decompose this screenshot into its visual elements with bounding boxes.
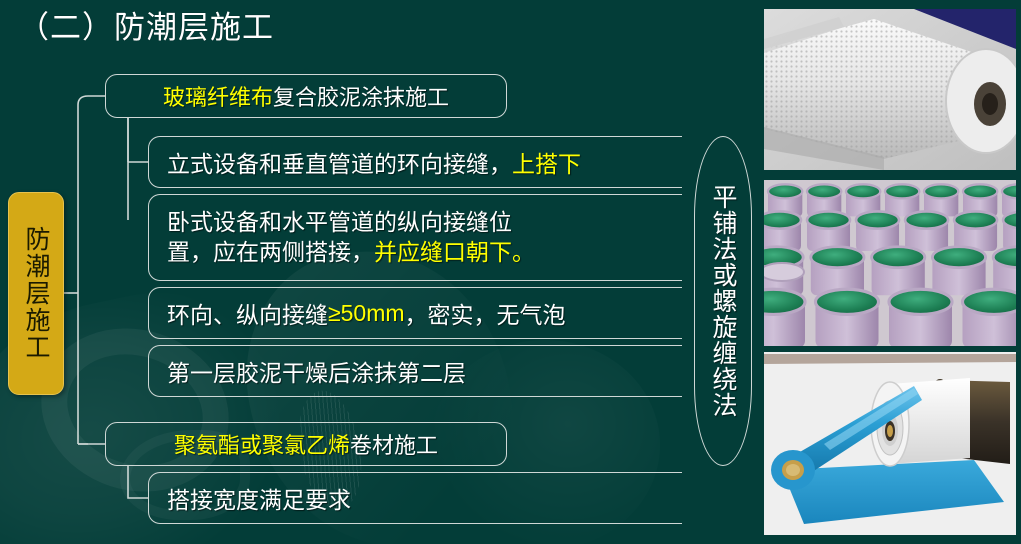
node-horizontal-wrapper: 卧式设备和水平管道的纵向接缝位 置，应在两侧搭接，并应缝口朝下。 [167, 208, 535, 268]
node-horizontal-highlight: 并应缝口朝下。 [374, 239, 535, 265]
page-title: （二）防潮层施工 [18, 2, 274, 47]
node-seam50-highlight: ≥50mm [328, 300, 405, 327]
node-second-layer-coating[interactable]: 第一层胶泥干燥后涂抹第二层 [148, 345, 682, 397]
node-glassfiber-highlight: 玻璃纤维布 [163, 80, 273, 112]
node-membrane-rest: 卷材施工 [350, 428, 438, 460]
node-seam50-pre: 环向、纵向接缝 [167, 296, 328, 330]
photo-fiberglass-cloth-roll [764, 9, 1016, 170]
node-vertical-text: 立式设备和垂直管道的环向接缝， [167, 145, 512, 179]
node-vertical-highlight: 上搭下 [512, 145, 581, 179]
node-lapwidth-text: 搭接宽度满足要求 [167, 481, 351, 515]
node-membrane-highlight: 聚氨酯或聚氯乙烯 [174, 428, 350, 460]
node-vertical-equipment-seam[interactable]: 立式设备和垂直管道的环向接缝，上搭下 [148, 136, 682, 188]
node-horizontal-line2a: 置，应在两侧搭接， [167, 239, 374, 265]
root-node-label: 防潮层施工 [22, 226, 50, 361]
node-seam50-post: ，密实，无气泡 [405, 296, 566, 330]
node-horizontal-equipment-seam[interactable]: 卧式设备和水平管道的纵向接缝位 置，应在两侧搭接，并应缝口朝下。 [148, 194, 682, 281]
photo-waterproof-membrane-rolls [764, 352, 1016, 535]
node-laying-method-label: 平铺法或螺旋缠绕法 [705, 184, 741, 418]
node-horizontal-line1: 卧式设备和水平管道的纵向接缝位 [167, 209, 512, 235]
node-glassfiber-rest: 复合胶泥涂抹施工 [273, 80, 449, 112]
root-node-box[interactable]: 防潮层施工 [8, 192, 64, 395]
node-secondlayer-text: 第一层胶泥干燥后涂抹第二层 [167, 354, 466, 388]
node-glassfiber-construction[interactable]: 玻璃纤维布复合胶泥涂抹施工 [105, 74, 507, 118]
node-seam-overlap-50mm[interactable]: 环向、纵向接缝≥50mm，密实，无气泡 [148, 287, 682, 339]
photo-green-adhesive-buckets [764, 180, 1016, 346]
node-membrane-construction[interactable]: 聚氨酯或聚氯乙烯卷材施工 [105, 422, 507, 466]
slide-canvas: （二）防潮层施工 防潮层施工 玻璃纤维布复合胶泥涂抹施工 [0, 0, 1021, 544]
node-laying-method-brace[interactable]: 平铺法或螺旋缠绕法 [694, 136, 752, 466]
node-lap-width-requirement[interactable]: 搭接宽度满足要求 [148, 472, 682, 524]
